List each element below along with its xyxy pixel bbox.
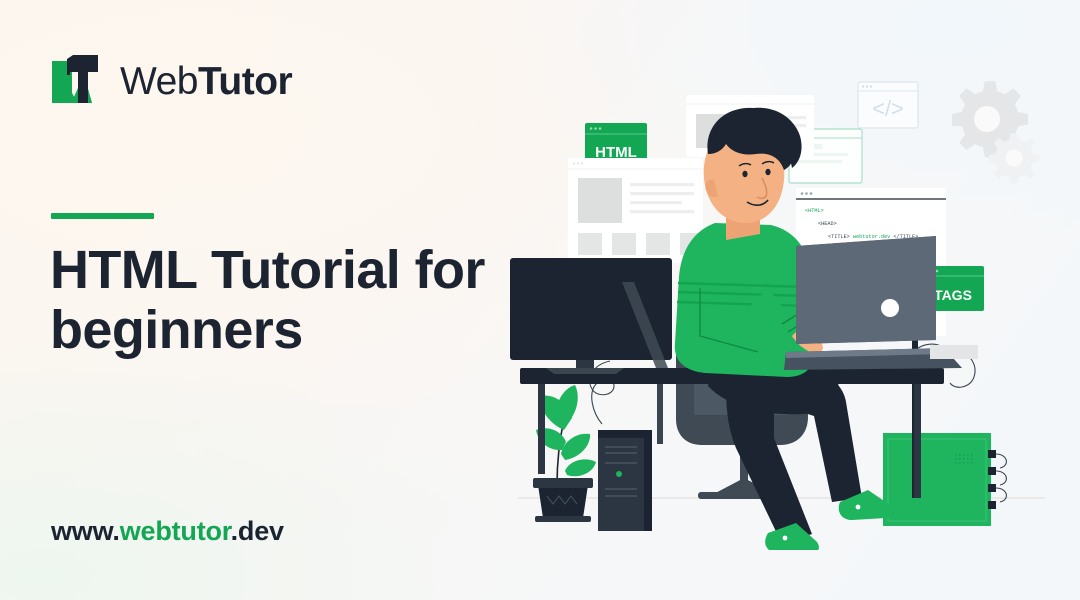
eye-left-icon [742,171,747,177]
brand-name-light: Web [120,60,198,103]
site-url-suffix: .dev [231,516,284,546]
banner-root: WebTutor HTML Tutorial for beginners www… [0,0,1080,600]
shoe-back-icon [765,523,819,550]
webtutor-mark-icon [50,53,106,109]
gear-small-icon [989,133,1039,183]
browser-card-large [568,158,704,263]
brand-name: WebTutor [120,62,292,101]
badge-tags-label: TAGS [934,287,972,303]
site-url-prefix: www. [51,516,120,546]
code-brackets-icon: </> [858,82,918,128]
pc-tower [598,430,652,531]
eye-right-icon [765,169,770,175]
laptop-logo-icon [881,299,899,317]
page-title: HTML Tutorial for beginners [50,240,520,361]
brand-logo[interactable]: WebTutor [50,53,292,109]
brand-name-bold: Tutor [198,60,292,103]
accent-rule [51,213,154,219]
code-line-0: <HTML> [805,208,824,214]
site-url[interactable]: www.webtutor.dev [51,516,284,547]
desktop-monitor [510,258,672,374]
monitor-base-right [930,345,978,359]
hero-illustration: </> HT [500,30,1060,550]
svg-text:</>: </> [872,96,904,121]
code-line-1: <HEAD> [818,221,837,227]
green-cabinet [883,433,1006,526]
site-url-highlight: webtutor [120,516,231,546]
